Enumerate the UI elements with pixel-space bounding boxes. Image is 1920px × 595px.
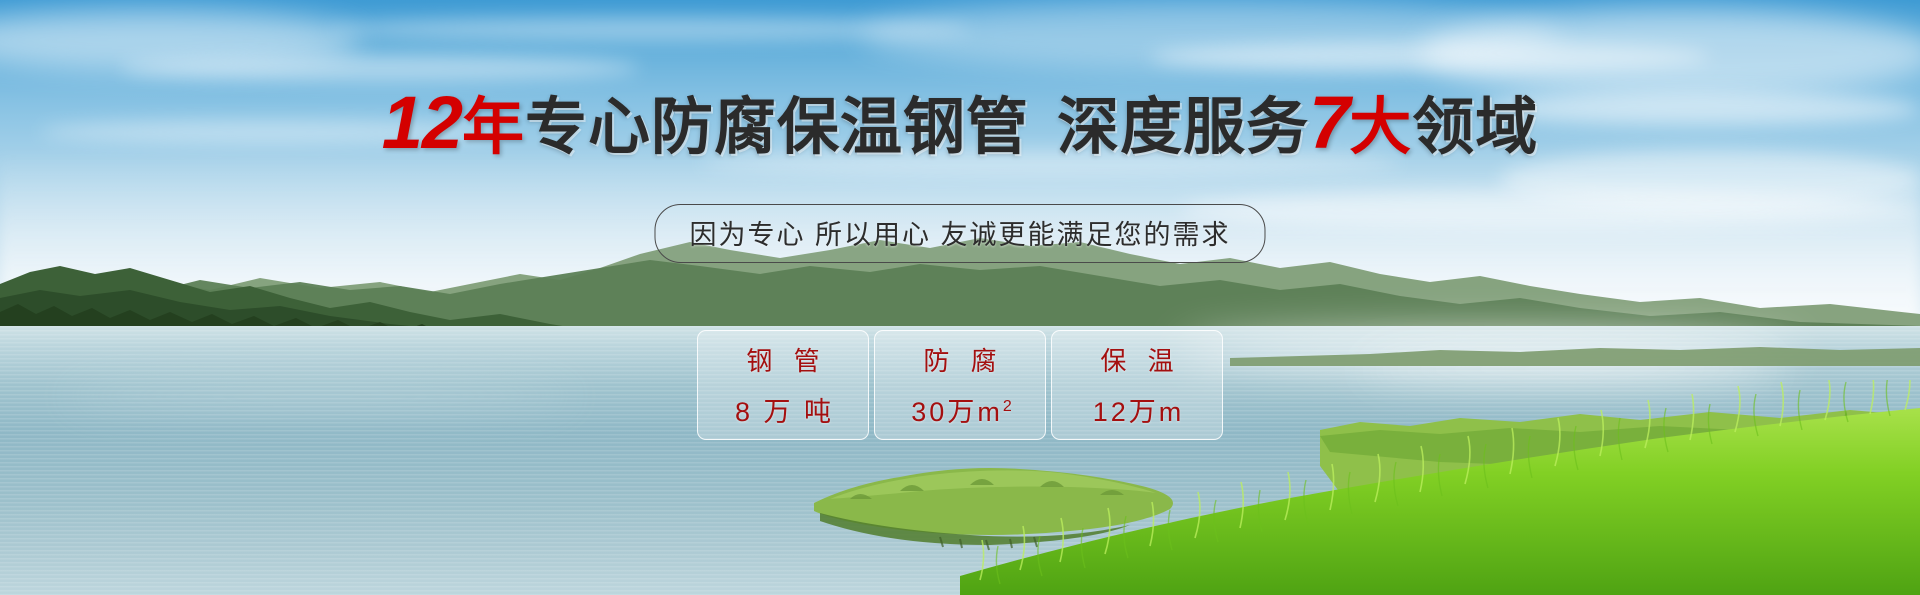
headline-fields-measure: 大 [1349,93,1412,162]
stat-card-insulation[interactable]: 保 温 12万m [1051,330,1223,440]
hero-banner: 12年专心防腐保温钢管深度服务7大领域 因为专心 所以用心 友诚更能满足您的需求… [0,0,1920,595]
stat-card-value: 12万m [1090,390,1185,429]
headline-years-number: 12 [382,81,462,164]
stat-card-label: 保 温 [1093,341,1180,378]
headline-service-text: 深度服务 [1057,93,1309,162]
stat-value-text: 8 万 吨 [735,397,834,427]
stat-card-label: 防 腐 [916,341,1003,378]
subtitle-pill: 因为专心 所以用心 友诚更能满足您的需求 [654,204,1265,263]
stat-card-label: 钢 管 [739,341,826,378]
headline-main-text: 专心防腐保温钢管 [525,93,1029,162]
banner-content: 12年专心防腐保温钢管深度服务7大领域 因为专心 所以用心 友诚更能满足您的需求… [0,0,1920,595]
stat-card-group: 钢 管 8 万 吨 防 腐 30万m2 保 温 12万m [697,330,1223,440]
headline-fields-text: 领域 [1412,93,1538,162]
headline-fields-number: 7 [1309,81,1349,164]
stat-card-value: 8 万 吨 [732,390,834,429]
stat-value-text: 12万m [1093,397,1185,427]
stat-card-value: 30万m2 [908,390,1011,429]
stat-value-superscript: 2 [1003,398,1012,415]
stat-card-steel-pipe[interactable]: 钢 管 8 万 吨 [697,330,869,440]
page-title: 12年专心防腐保温钢管深度服务7大领域 [0,86,1920,160]
headline-years-unit: 年 [462,93,525,162]
stat-card-anticorrosion[interactable]: 防 腐 30万m2 [874,330,1046,440]
stat-value-text: 30万m [911,397,1003,427]
